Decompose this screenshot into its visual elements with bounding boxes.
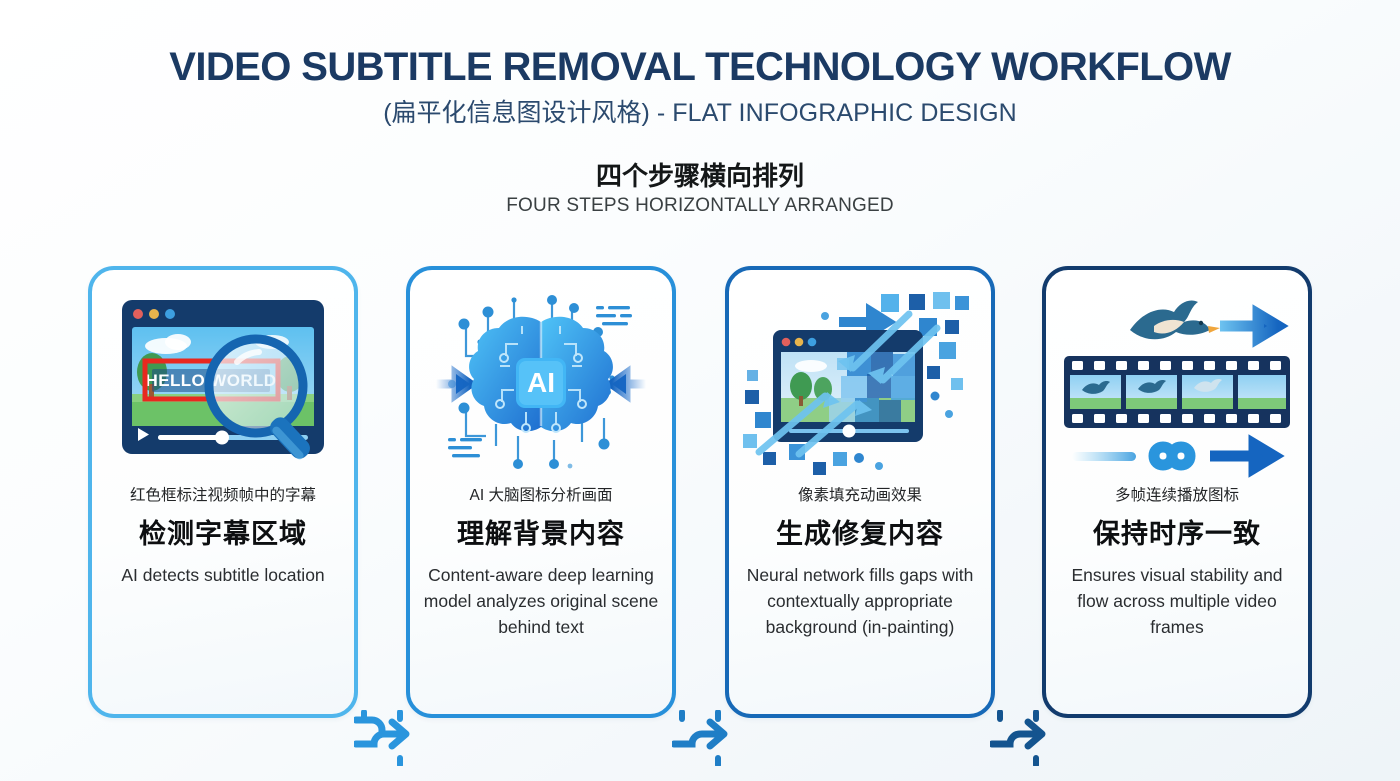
step-description-en: AI detects subtitle location bbox=[109, 563, 336, 589]
section-heading-en: FOUR STEPS HORIZONTALLY ARRANGED bbox=[0, 195, 1400, 217]
step-description-en: Neural network fills gaps with contextua… bbox=[729, 563, 991, 641]
film-strip-bird-frames-icon bbox=[1058, 286, 1296, 482]
step-caption-zh: 像素填充动画效果 bbox=[798, 486, 922, 505]
section-heading-zh: 四个步骤横向排列 bbox=[0, 161, 1400, 192]
connector-arrow-1 bbox=[354, 710, 418, 766]
step-card-temporal-consistency[interactable]: 多帧连续播放图标 保持时序一致 Ensures visual stability… bbox=[1042, 266, 1312, 718]
page-subtitle-zh: (扁平化信息图设计风格) bbox=[383, 99, 650, 127]
step-card-understand-background[interactable]: AI AI 大脑图标分析画面 理解背景内容 Content-aware deep… bbox=[406, 266, 676, 718]
page-subtitle-en: - FLAT INFOGRAPHIC DESIGN bbox=[657, 99, 1017, 127]
step-caption-zh: 多帧连续播放图标 bbox=[1115, 486, 1239, 505]
step-title-zh: 保持时序一致 bbox=[1093, 519, 1261, 550]
step-caption-zh: AI 大脑图标分析画面 bbox=[470, 486, 613, 505]
step-title-zh: 检测字幕区域 bbox=[139, 519, 307, 550]
video-player-subtitle-magnifier-icon: HELLO WORLD bbox=[104, 286, 342, 482]
step-title-zh: 理解背景内容 bbox=[457, 519, 625, 550]
pixel-inpainting-mosaic-icon bbox=[741, 286, 979, 482]
step-title-zh: 生成修复内容 bbox=[776, 519, 944, 550]
page-title: VIDEO SUBTITLE REMOVAL TECHNOLOGY WORKFL… bbox=[0, 46, 1400, 88]
step-caption-zh: 红色框标注视频帧中的字幕 bbox=[130, 486, 316, 505]
step-description-en: Ensures visual stability and flow across… bbox=[1046, 563, 1308, 641]
step-description-en: Content-aware deep learning model analyz… bbox=[410, 563, 672, 641]
svg-text:AI: AI bbox=[527, 367, 555, 398]
section-heading: 四个步骤横向排列 FOUR STEPS HORIZONTALLY ARRANGE… bbox=[0, 161, 1400, 217]
page-header: VIDEO SUBTITLE REMOVAL TECHNOLOGY WORKFL… bbox=[0, 0, 1400, 128]
ai-brain-circuit-icon: AI bbox=[422, 286, 660, 482]
step-card-generate-inpainting[interactable]: 像素填充动画效果 生成修复内容 Neural network fills gap… bbox=[725, 266, 995, 718]
connector-arrow-3 bbox=[990, 710, 1054, 766]
step-card-detect-subtitle[interactable]: HELLO WORLD 红色框标注视频帧中的字幕 检测字幕区域 AI detec… bbox=[88, 266, 358, 718]
page-subtitle: (扁平化信息图设计风格) - FLAT INFOGRAPHIC DESIGN bbox=[0, 99, 1400, 128]
workflow-steps: HELLO WORLD 红色框标注视频帧中的字幕 检测字幕区域 AI detec… bbox=[0, 266, 1400, 726]
connector-arrow-2 bbox=[672, 710, 736, 766]
